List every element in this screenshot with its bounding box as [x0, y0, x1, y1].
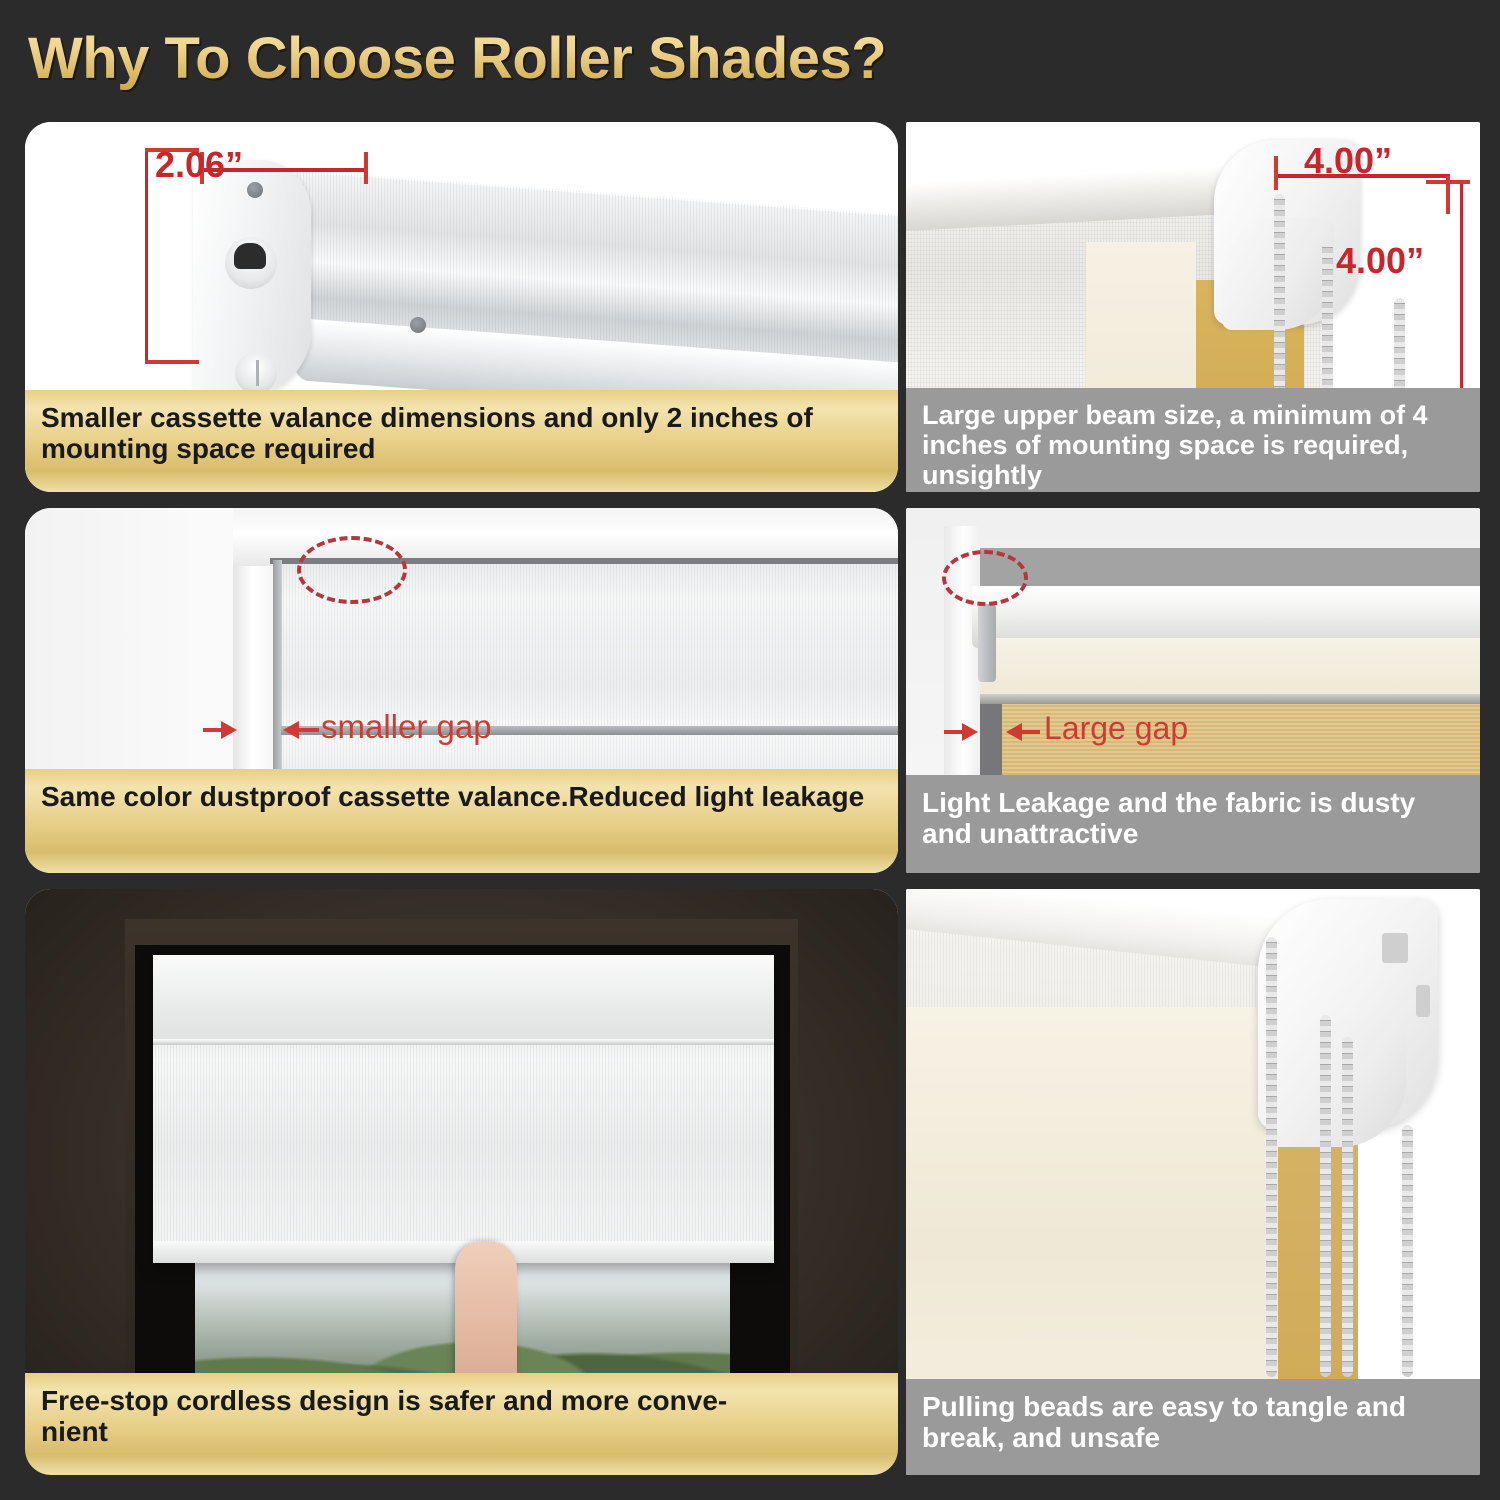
panel-mid-right: Large gap Light Leakage and the fabric i… [906, 508, 1480, 873]
caption-line-1: Free-stop cordless design is safer and m… [41, 1385, 727, 1416]
caption-top-left: Smaller cassette valance dimensions and … [25, 390, 898, 492]
beam-width-label: 4.00” [1304, 140, 1392, 182]
caption-bottom-right: Pulling beads are easy to tangle and bre… [906, 1379, 1480, 1475]
panel-bottom-left: Free-stop cordless design is safer and m… [25, 889, 898, 1475]
caption-mid-right: Light Leakage and the fabric is dusty an… [906, 775, 1480, 873]
beam-height-label: 4.00” [1336, 240, 1424, 282]
cassette-valance [153, 955, 774, 1043]
height-dim-line [145, 148, 148, 364]
gap-highlight-circle [297, 536, 407, 604]
caption-bottom-left: Free-stop cordless design is safer and m… [25, 1373, 898, 1475]
panel-top-right: 4.00” 4.00” Large upper beam size, a min… [906, 122, 1480, 492]
bead-chain [1342, 1037, 1353, 1377]
large-gap-label: Large gap [1044, 710, 1188, 747]
valance-knob [225, 237, 277, 289]
bead-chain [1320, 1015, 1331, 1377]
panel-mid-left: smaller gap Same color dustproof cassett… [25, 508, 898, 873]
caption-line-2: nient [41, 1416, 108, 1447]
panel-top-left: 5.49” 2.06” Smaller cassette valance dim… [25, 122, 898, 492]
smaller-gap-label: smaller gap [321, 708, 492, 746]
panel-bottom-right: Pulling beads are easy to tangle and bre… [906, 889, 1480, 1475]
bead-chain [1402, 1125, 1413, 1377]
caption-top-right: Large upper beam size, a minimum of 4 in… [906, 388, 1480, 492]
width-dim-label: 2.06” [155, 144, 243, 186]
valance-screw [235, 352, 277, 394]
page-title: Why To Choose Roller Shades? [28, 20, 1128, 98]
caption-mid-left: Same color dustproof cassette valance.Re… [25, 769, 898, 873]
bead-chain [1266, 937, 1277, 1377]
gap-highlight-circle [942, 550, 1028, 606]
